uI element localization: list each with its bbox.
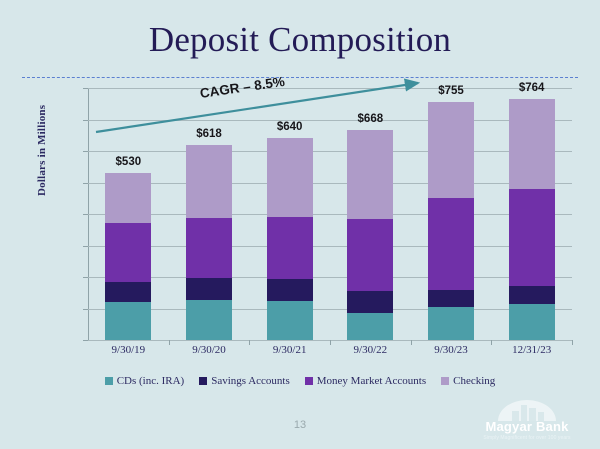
logo-tagline: Simply Magnificent for over 100 years bbox=[468, 435, 586, 441]
legend-label: Checking bbox=[453, 375, 495, 387]
bar-total-label: $668 bbox=[335, 113, 405, 125]
bar-segment[interactable] bbox=[347, 291, 393, 313]
y-axis-tick bbox=[83, 340, 88, 341]
legend-item[interactable]: Money Market Accounts bbox=[305, 375, 426, 387]
bar-segment[interactable] bbox=[186, 300, 232, 340]
y-axis-tick bbox=[83, 214, 88, 215]
bar-group[interactable]: $6689/30/22 bbox=[347, 88, 393, 340]
bar-segment[interactable] bbox=[267, 301, 313, 340]
bar-total-label: $640 bbox=[255, 121, 325, 133]
x-axis-label: 9/30/19 bbox=[86, 344, 170, 356]
bar-segment[interactable] bbox=[267, 138, 313, 217]
bar-segment[interactable] bbox=[347, 219, 393, 291]
x-axis-tick bbox=[572, 340, 573, 345]
bar-group[interactable]: $7559/30/23 bbox=[428, 88, 474, 340]
y-axis-tick bbox=[83, 183, 88, 184]
bar-total-label: $764 bbox=[497, 82, 567, 94]
y-axis-tick bbox=[83, 277, 88, 278]
bar-segment[interactable] bbox=[509, 304, 555, 340]
bar-segment[interactable] bbox=[186, 218, 232, 278]
company-logo: Magyar Bank Simply Magnificent for over … bbox=[468, 399, 586, 443]
x-axis-label: 9/30/21 bbox=[248, 344, 332, 356]
bar-segment[interactable] bbox=[347, 313, 393, 340]
bar-segment[interactable] bbox=[428, 307, 474, 340]
bar-segment[interactable] bbox=[105, 282, 151, 302]
legend-swatch-icon bbox=[305, 377, 313, 385]
plot-area: $800$700$600$500$400$300$200$100$0$5309/… bbox=[88, 88, 572, 340]
bar-segment[interactable] bbox=[105, 223, 151, 282]
chart-legend: CDs (inc. IRA)Savings AccountsMoney Mark… bbox=[0, 375, 600, 387]
gridline bbox=[88, 183, 572, 184]
y-axis-tick bbox=[83, 309, 88, 310]
legend-swatch-icon bbox=[441, 377, 449, 385]
y-axis-tick bbox=[83, 151, 88, 152]
legend-swatch-icon bbox=[105, 377, 113, 385]
gridline bbox=[88, 309, 572, 310]
bar-segment[interactable] bbox=[186, 278, 232, 300]
gridline bbox=[88, 151, 572, 152]
slide: Deposit Composition Dollars in Millions … bbox=[0, 0, 600, 449]
bar-group[interactable]: $6189/30/20 bbox=[186, 88, 232, 340]
bar-segment[interactable] bbox=[347, 130, 393, 219]
y-axis-tick bbox=[83, 120, 88, 121]
bar-segment[interactable] bbox=[267, 217, 313, 278]
bar-group[interactable]: $6409/30/21 bbox=[267, 88, 313, 340]
gridline bbox=[88, 214, 572, 215]
bar-group[interactable]: $5309/30/19 bbox=[105, 88, 151, 340]
bar-segment[interactable] bbox=[267, 279, 313, 301]
legend-label: Savings Accounts bbox=[211, 375, 290, 387]
legend-label: CDs (inc. IRA) bbox=[117, 375, 185, 387]
bar-segment[interactable] bbox=[428, 198, 474, 289]
bank-building-icon bbox=[496, 399, 558, 421]
bar-total-label: $618 bbox=[174, 128, 244, 140]
x-axis-label: 12/31/23 bbox=[490, 344, 574, 356]
bar-segment[interactable] bbox=[509, 189, 555, 286]
legend-item[interactable]: CDs (inc. IRA) bbox=[105, 375, 185, 387]
bar-segment[interactable] bbox=[105, 302, 151, 340]
x-axis-label: 9/30/20 bbox=[167, 344, 251, 356]
legend-item[interactable]: Savings Accounts bbox=[199, 375, 290, 387]
bar-segment[interactable] bbox=[186, 145, 232, 217]
bar-group[interactable]: $76412/31/23 bbox=[509, 88, 555, 340]
legend-label: Money Market Accounts bbox=[317, 375, 426, 387]
y-axis-title: Dollars in Millions bbox=[36, 105, 48, 196]
legend-swatch-icon bbox=[199, 377, 207, 385]
x-axis-label: 9/30/23 bbox=[409, 344, 493, 356]
gridline bbox=[88, 120, 572, 121]
bar-segment[interactable] bbox=[509, 99, 555, 189]
bar-total-label: $755 bbox=[416, 85, 486, 97]
bar-segment[interactable] bbox=[509, 286, 555, 303]
bar-total-label: $530 bbox=[93, 156, 163, 168]
bar-segment[interactable] bbox=[428, 290, 474, 307]
y-axis-tick bbox=[83, 246, 88, 247]
y-axis-tick bbox=[83, 88, 88, 89]
bar-segment[interactable] bbox=[105, 173, 151, 222]
bar-segment[interactable] bbox=[428, 102, 474, 198]
x-axis-label: 9/30/22 bbox=[328, 344, 412, 356]
logo-name: Magyar Bank bbox=[468, 420, 586, 433]
gridline bbox=[88, 277, 572, 278]
gridline bbox=[88, 246, 572, 247]
legend-item[interactable]: Checking bbox=[441, 375, 495, 387]
